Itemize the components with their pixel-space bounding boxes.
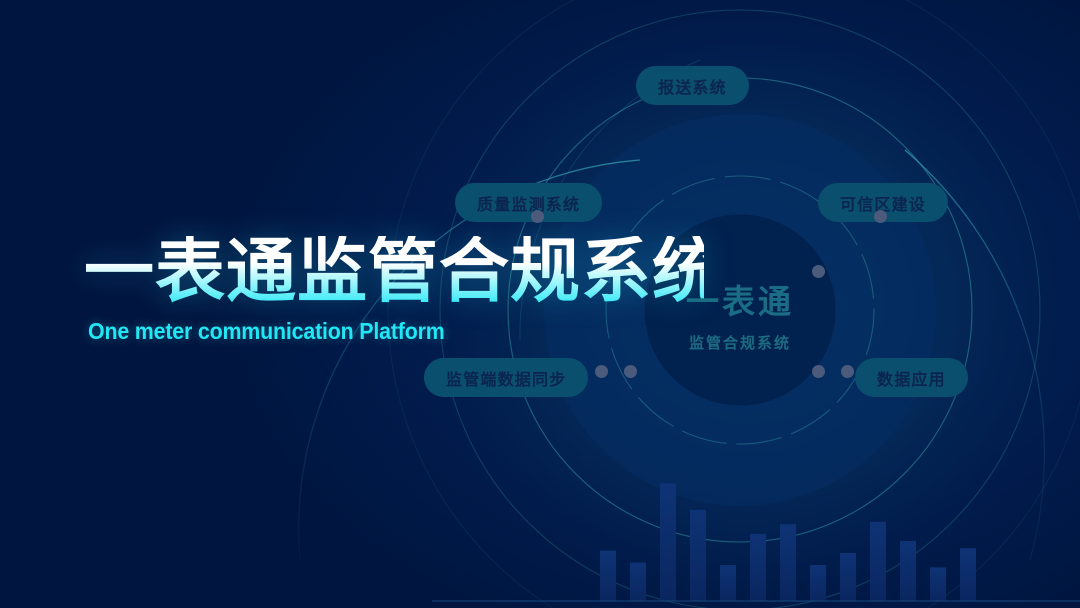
connector-dot [624, 365, 637, 378]
diagram-node-layer: 报送系统质量监测系统可信区建设监管端数据同步数据应用 [0, 0, 1080, 608]
connector-dot [595, 365, 608, 378]
diagram-node-label: 报送系统 [658, 74, 727, 98]
connector-dot [812, 265, 825, 278]
diagram-node-tongbu[interactable]: 监管端数据同步 [424, 358, 588, 397]
diagram-node-label: 数据应用 [877, 366, 946, 390]
connector-dot [812, 365, 825, 378]
connector-dot [874, 210, 887, 223]
slide-canvas: 一表通监管合规系统 One meter communication Platfo… [0, 0, 1080, 608]
diagram-node-label: 监管端数据同步 [446, 366, 566, 390]
diagram-node-label: 质量监测系统 [477, 191, 580, 215]
connector-dot [531, 210, 544, 223]
connector-dot [841, 365, 854, 378]
diagram-node-baosong[interactable]: 报送系统 [636, 66, 749, 105]
diagram-node-yingyong[interactable]: 数据应用 [855, 358, 968, 397]
diagram-node-zhiliang[interactable]: 质量监测系统 [455, 183, 602, 222]
